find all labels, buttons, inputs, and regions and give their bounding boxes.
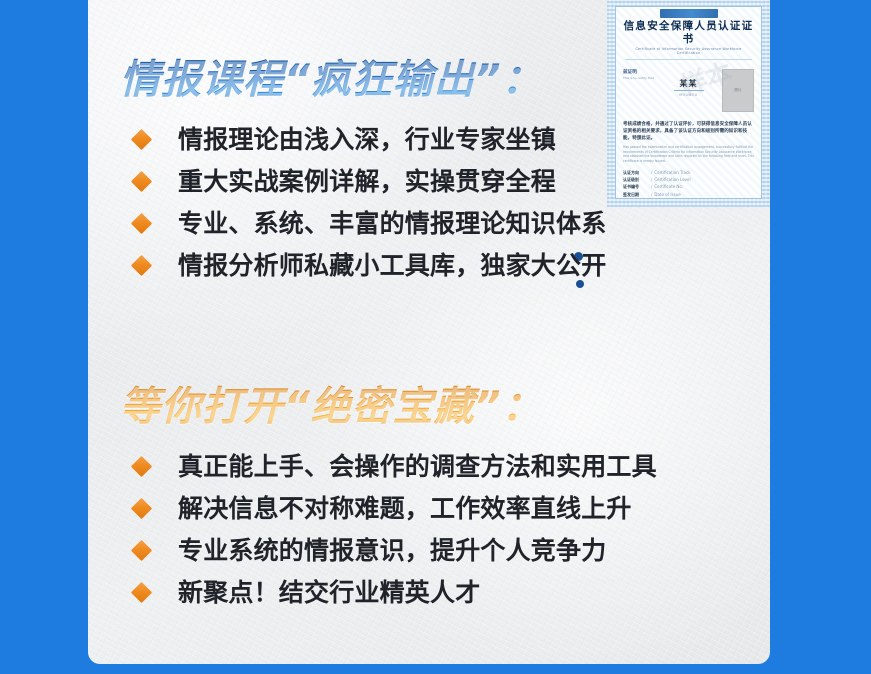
list-item: 情报理论由浅入深，行业专家坐镇: [114, 125, 734, 155]
content-column: 情报课程“疯狂输出”： 情报理论由浅入深，行业专家坐镇 重大实战案例详解，实操贯…: [114, 0, 734, 620]
section-heading-course: 情报课程“疯狂输出”：: [114, 58, 734, 103]
diamond-bullet-icon: [131, 255, 152, 276]
diamond-bullet-icon: [131, 582, 152, 603]
section-treasure-benefits: 等你打开“绝密宝藏”： 真正能上手、会操作的调查方法和实用工具 解决信息不对称难…: [114, 293, 734, 608]
section-course-highlights: 情报课程“疯狂输出”： 情报理论由浅入深，行业专家坐镇 重大实战案例详解，实操贯…: [114, 0, 734, 281]
list-item: 专业系统的情报意识，提升个人竞争力: [114, 536, 734, 566]
bullet-list-course: 情报理论由浅入深，行业专家坐镇 重大实战案例详解，实操贯穿全程 专业、系统、丰富…: [114, 125, 734, 281]
content-card: 信息安全保障人员认证证书 Certificate of Information …: [88, 0, 770, 664]
section-heading-treasure: 等你打开“绝密宝藏”：: [114, 385, 734, 430]
list-item-label: 专业、系统、丰富的情报理论知识体系: [178, 209, 606, 239]
list-item-label: 解决信息不对称难题，工作效率直线上升: [178, 494, 632, 524]
diamond-bullet-icon: [131, 540, 152, 561]
diamond-bullet-icon: [131, 129, 152, 150]
diamond-bullet-icon: [131, 213, 152, 234]
diamond-bullet-icon: [131, 456, 152, 477]
bullet-list-treasure: 真正能上手、会操作的调查方法和实用工具 解决信息不对称难题，工作效率直线上升 专…: [114, 452, 734, 608]
list-item-label: 真正能上手、会操作的调查方法和实用工具: [178, 452, 657, 482]
list-item: 真正能上手、会操作的调查方法和实用工具: [114, 452, 734, 482]
list-item-label: 情报理论由浅入深，行业专家坐镇: [178, 125, 556, 155]
list-item: 专业、系统、丰富的情报理论知识体系: [114, 209, 734, 239]
list-item: 情报分析师私藏小工具库，独家大公开: [114, 251, 734, 281]
diamond-bullet-icon: [131, 171, 152, 192]
list-item: 解决信息不对称难题，工作效率直线上升: [114, 494, 734, 524]
card-inner: 信息安全保障人员认证证书 Certificate of Information …: [88, 0, 770, 664]
list-item: 新聚点！结交行业精英人才: [114, 578, 734, 608]
diamond-bullet-icon: [131, 498, 152, 519]
list-item-label: 新聚点！结交行业精英人才: [178, 578, 480, 608]
list-item: 重大实战案例详解，实操贯穿全程: [114, 167, 734, 197]
list-item-label: 重大实战案例详解，实操贯穿全程: [178, 167, 556, 197]
list-item-label: 专业系统的情报意识，提升个人竞争力: [178, 536, 606, 566]
list-item-label: 情报分析师私藏小工具库，独家大公开: [178, 251, 606, 281]
